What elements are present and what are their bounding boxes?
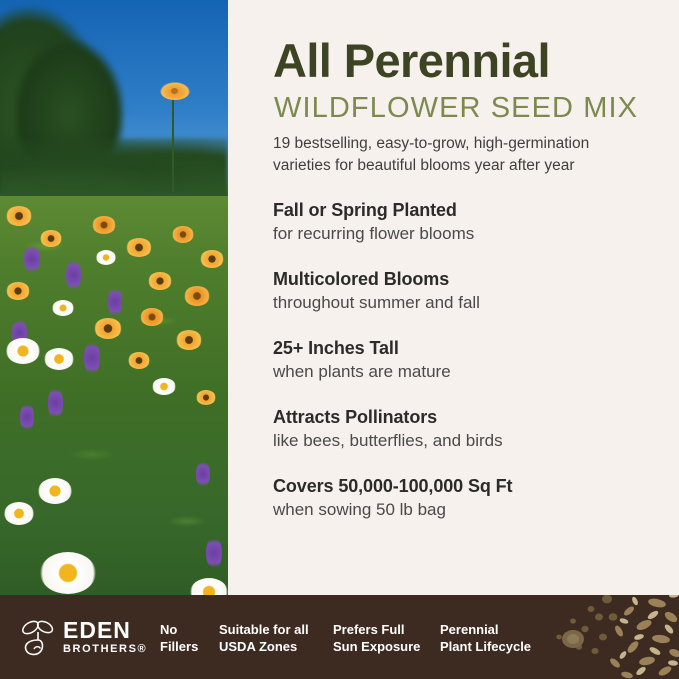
feature-subtext: for recurring flower blooms xyxy=(273,222,663,246)
flower-purple-salvia xyxy=(48,386,63,420)
feature-heading: Multicolored Blooms xyxy=(273,267,663,291)
flower-blackeyed-susan xyxy=(126,238,152,257)
feature-item: Multicolored Blooms throughout summer an… xyxy=(273,267,663,315)
flower-blackeyed-susan xyxy=(128,352,150,369)
flower-white-daisy xyxy=(152,378,176,395)
feature-heading: 25+ Inches Tall xyxy=(273,336,663,360)
badge-line-1: Prefers Full xyxy=(333,621,420,638)
flower-white-daisy xyxy=(96,250,116,265)
feature-item: 25+ Inches Tall when plants are mature xyxy=(273,336,663,384)
feature-heading: Attracts Pollinators xyxy=(273,405,663,429)
flower-purple-salvia xyxy=(206,536,222,570)
brand-logo[interactable]: EDEN BROTHERS® xyxy=(18,618,144,658)
flower-purple-salvia xyxy=(24,244,40,274)
badge-line-2: USDA Zones xyxy=(219,638,309,655)
brand-wordmark: EDEN BROTHERS® xyxy=(63,619,147,656)
product-infographic: All Perennial WILDFLOWER SEED MIX 19 bes… xyxy=(0,0,679,679)
flower-white-daisy xyxy=(38,478,72,504)
flower-blackeyed-susan xyxy=(196,390,216,405)
flower-white-daisy xyxy=(44,348,74,370)
flower-purple-salvia xyxy=(66,258,81,292)
badge-line-2: Fillers xyxy=(160,638,198,655)
flower-blackeyed-susan xyxy=(148,272,172,290)
feature-subtext: like bees, butterflies, and birds xyxy=(273,429,663,453)
flower-blackeyed-susan xyxy=(40,230,62,247)
page-subtitle: WILDFLOWER SEED MIX xyxy=(274,92,674,125)
tall-flower-stem xyxy=(172,96,174,192)
feature-item: Attracts Pollinators like bees, butterfl… xyxy=(273,405,663,453)
feature-subtext: when sowing 50 lb bag xyxy=(273,498,663,522)
badge-line-1: Suitable for all xyxy=(219,621,309,638)
brand-name: EDEN xyxy=(63,619,147,642)
footer-badge-no-fillers: No Fillers xyxy=(160,621,198,655)
flower-purple-salvia xyxy=(108,286,122,318)
flower-blackeyed-susan xyxy=(184,286,210,306)
tall-yellow-bloom xyxy=(160,82,190,100)
badge-line-2: Sun Exposure xyxy=(333,638,420,655)
footer-badge-usda-zones: Suitable for all USDA Zones xyxy=(219,621,309,655)
footer-badge-plant-lifecycle: Perennial Plant Lifecycle xyxy=(440,621,531,655)
flower-white-daisy xyxy=(52,300,74,316)
seed-pile-image xyxy=(529,595,679,679)
flower-blackeyed-susan xyxy=(6,206,32,226)
sprout-seed-icon xyxy=(18,618,58,658)
feature-subtext: when plants are mature xyxy=(273,360,663,384)
flower-blackeyed-susan xyxy=(92,216,116,234)
footer-bar: EDEN BROTHERS® No Fillers Suitable for a… xyxy=(0,595,679,679)
flower-purple-salvia xyxy=(20,402,34,432)
lede-line-2: varieties for beautiful blooms year afte… xyxy=(273,155,639,177)
flower-purple-salvia xyxy=(196,460,210,488)
flower-white-daisy xyxy=(6,338,40,364)
feature-subtext: throughout summer and fall xyxy=(273,291,663,315)
badge-line-2: Plant Lifecycle xyxy=(440,638,531,655)
flower-white-daisy xyxy=(4,502,34,525)
content-panel: All Perennial WILDFLOWER SEED MIX 19 bes… xyxy=(228,0,679,613)
brand-name-sub: BROTHERS® xyxy=(63,642,147,656)
badge-line-1: Perennial xyxy=(440,621,531,638)
feature-heading: Covers 50,000-100,000 Sq Ft xyxy=(273,474,663,498)
wildflower-meadow-photo xyxy=(0,0,228,613)
flower-blackeyed-susan xyxy=(6,282,30,300)
lede-paragraph: 19 bestselling, easy-to-grow, high-germi… xyxy=(273,133,639,177)
footer-badge-sun-exposure: Prefers Full Sun Exposure xyxy=(333,621,420,655)
page-title: All Perennial xyxy=(273,35,673,87)
flower-white-daisy xyxy=(40,552,96,594)
flower-blackeyed-susan xyxy=(94,318,122,339)
flower-blackeyed-susan xyxy=(176,330,202,350)
flower-blackeyed-susan xyxy=(200,250,224,268)
lede-line-1: 19 bestselling, easy-to-grow, high-germi… xyxy=(273,133,639,155)
feature-list: Fall or Spring Planted for recurring flo… xyxy=(273,198,663,543)
badge-line-1: No xyxy=(160,621,198,638)
feature-item: Covers 50,000-100,000 Sq Ft when sowing … xyxy=(273,474,663,522)
flower-blackeyed-susan xyxy=(172,226,194,243)
flower-blackeyed-susan xyxy=(140,308,164,326)
feature-heading: Fall or Spring Planted xyxy=(273,198,663,222)
feature-item: Fall or Spring Planted for recurring flo… xyxy=(273,198,663,246)
flower-purple-salvia xyxy=(84,340,100,376)
